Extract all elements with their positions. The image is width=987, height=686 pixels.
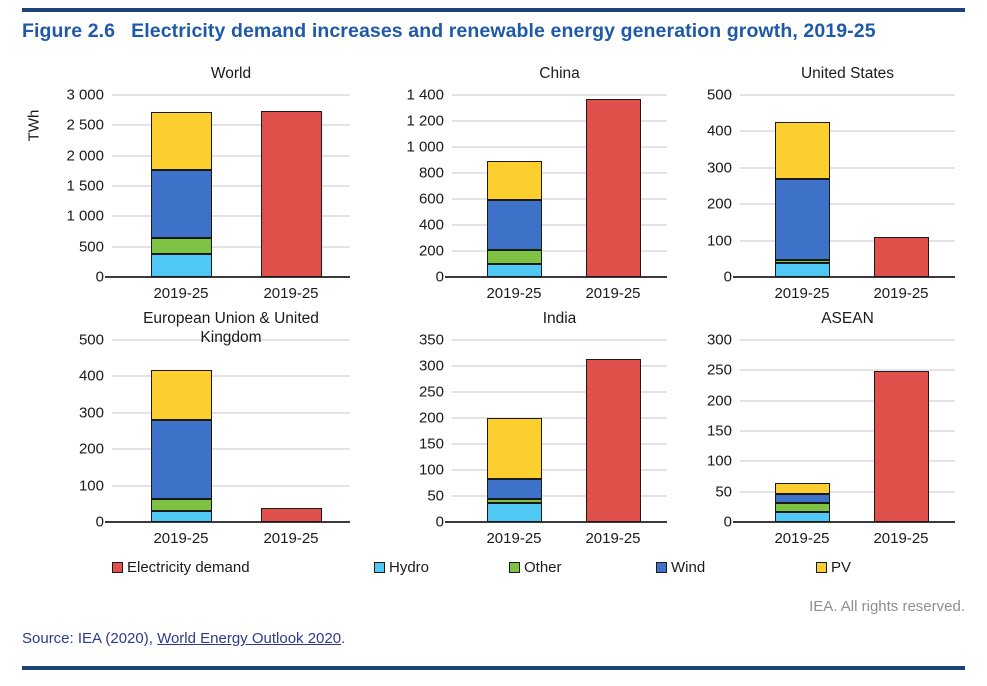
bar-segment-hydro[interactable] bbox=[487, 503, 542, 522]
legend-swatch-icon bbox=[509, 562, 520, 573]
y-axis-tick-label: 300 bbox=[79, 404, 104, 421]
chart-panel: World05001 0001 5002 0002 5003 0002019-2… bbox=[72, 62, 360, 317]
y-axis-tick-label: 250 bbox=[707, 362, 732, 379]
legend-label: Wind bbox=[671, 559, 705, 576]
electricity-demand-bar[interactable] bbox=[874, 237, 929, 277]
x-axis-tick-label: 2019-25 bbox=[153, 530, 208, 547]
x-axis-tick-label: 2019-25 bbox=[153, 285, 208, 302]
y-axis-tick-label: 2 500 bbox=[66, 117, 104, 134]
bar-segment-other[interactable] bbox=[775, 260, 830, 264]
x-axis-tick-label: 2019-25 bbox=[585, 530, 640, 547]
y-axis-tick-label: 200 bbox=[79, 441, 104, 458]
stacked-generation-bar[interactable] bbox=[775, 122, 830, 277]
bar-segment-wind[interactable] bbox=[151, 170, 212, 238]
y-axis-tick-label: 100 bbox=[79, 477, 104, 494]
gridline bbox=[112, 485, 350, 487]
bar-segment-wind[interactable] bbox=[775, 494, 830, 504]
x-axis-tick-label: 2019-25 bbox=[486, 530, 541, 547]
y-axis-tick-label: 0 bbox=[724, 269, 732, 286]
y-axis-tick-label: 250 bbox=[419, 384, 444, 401]
bar-segment-wind[interactable] bbox=[487, 479, 542, 498]
bar-segment-demand[interactable] bbox=[586, 99, 641, 277]
plot-area: 050100150200250300 bbox=[740, 340, 955, 522]
chart-panel: United States01002003004005002019-252019… bbox=[700, 62, 965, 317]
x-axis-tick-label: 2019-25 bbox=[263, 285, 318, 302]
legend-label: Electricity demand bbox=[127, 559, 250, 576]
bar-segment-wind[interactable] bbox=[775, 179, 830, 259]
gridline bbox=[112, 339, 350, 341]
stacked-generation-bar[interactable] bbox=[151, 370, 212, 522]
stacked-generation-bar[interactable] bbox=[487, 161, 542, 277]
y-axis-tick-label: 0 bbox=[436, 514, 444, 531]
bar-segment-pv[interactable] bbox=[775, 483, 830, 494]
source-prefix: Source: IEA (2020), bbox=[22, 630, 157, 647]
chart-panel: European Union & United Kingdom010020030… bbox=[72, 307, 360, 562]
panel-title: United States bbox=[740, 64, 955, 83]
legend-label: PV bbox=[831, 559, 851, 576]
page-title: Figure 2.6Electricity demand increases a… bbox=[22, 20, 876, 43]
legend-item-hydro[interactable]: Hydro bbox=[374, 559, 429, 576]
gridline bbox=[112, 375, 350, 377]
y-axis-tick-label: 400 bbox=[707, 123, 732, 140]
bar-segment-wind[interactable] bbox=[487, 200, 542, 250]
chart-panel: India0501001502002503003502019-252019-25 bbox=[400, 307, 677, 562]
bar-segment-demand[interactable] bbox=[586, 359, 641, 522]
x-axis-tick-label: 2019-25 bbox=[774, 285, 829, 302]
bar-segment-hydro[interactable] bbox=[775, 263, 830, 277]
chart-panel: ASEAN0501001502002503002019-252019-25 bbox=[700, 307, 965, 562]
bar-segment-hydro[interactable] bbox=[151, 511, 212, 522]
bar-segment-other[interactable] bbox=[151, 238, 212, 253]
y-axis-tick-label: 400 bbox=[419, 217, 444, 234]
x-axis-tick-label: 2019-25 bbox=[774, 530, 829, 547]
header-rule bbox=[22, 8, 965, 12]
electricity-demand-bar[interactable] bbox=[261, 111, 322, 277]
electricity-demand-bar[interactable] bbox=[586, 359, 641, 522]
bar-segment-pv[interactable] bbox=[151, 370, 212, 420]
bar-segment-pv[interactable] bbox=[151, 112, 212, 170]
stacked-generation-bar[interactable] bbox=[151, 112, 212, 277]
bar-segment-other[interactable] bbox=[487, 250, 542, 264]
source-link[interactable]: World Energy Outlook 2020 bbox=[157, 630, 341, 647]
bar-segment-wind[interactable] bbox=[151, 420, 212, 499]
x-axis-tick-label: 2019-25 bbox=[486, 285, 541, 302]
gridline bbox=[740, 94, 955, 96]
y-axis-tick-label: 300 bbox=[419, 358, 444, 375]
y-axis-tick-label: 800 bbox=[419, 165, 444, 182]
bar-segment-other[interactable] bbox=[487, 499, 542, 503]
y-axis-tick-label: 3 000 bbox=[66, 87, 104, 104]
plot-area: 0100200300400500 bbox=[112, 340, 350, 522]
y-axis-unit-label: TWh bbox=[25, 110, 42, 142]
y-axis-tick-label: 1 000 bbox=[66, 208, 104, 225]
chart-panel: China02004006008001 0001 2001 4002019-25… bbox=[400, 62, 677, 317]
legend-item-pv[interactable]: PV bbox=[816, 559, 851, 576]
y-axis-tick-label: 50 bbox=[427, 488, 444, 505]
legend-swatch-icon bbox=[112, 562, 123, 573]
y-axis-tick-label: 1 400 bbox=[406, 87, 444, 104]
y-axis-tick-label: 600 bbox=[419, 191, 444, 208]
bar-segment-other[interactable] bbox=[775, 503, 830, 511]
gridline bbox=[452, 94, 667, 96]
y-axis-tick-label: 150 bbox=[419, 436, 444, 453]
gridline bbox=[740, 203, 955, 205]
bar-segment-pv[interactable] bbox=[487, 161, 542, 200]
y-axis-tick-label: 400 bbox=[79, 368, 104, 385]
y-axis-tick-label: 0 bbox=[724, 514, 732, 531]
y-axis-tick-label: 100 bbox=[707, 232, 732, 249]
legend-swatch-icon bbox=[656, 562, 667, 573]
legend-swatch-icon bbox=[816, 562, 827, 573]
y-axis-tick-label: 300 bbox=[707, 159, 732, 176]
electricity-demand-bar[interactable] bbox=[874, 371, 929, 522]
plot-area: 050100150200250300350 bbox=[452, 340, 667, 522]
y-axis-tick-label: 2 000 bbox=[66, 147, 104, 164]
y-axis-tick-label: 150 bbox=[707, 423, 732, 440]
footer-rule bbox=[22, 666, 965, 670]
source-suffix: . bbox=[341, 630, 345, 647]
legend-item-wind[interactable]: Wind bbox=[656, 559, 705, 576]
bar-segment-other[interactable] bbox=[151, 499, 212, 511]
legend-label: Other bbox=[524, 559, 562, 576]
y-axis-tick-label: 200 bbox=[419, 410, 444, 427]
figure-title-text: Electricity demand increases and renewab… bbox=[131, 20, 876, 42]
y-axis-tick-label: 100 bbox=[419, 462, 444, 479]
y-axis-tick-label: 300 bbox=[707, 332, 732, 349]
bar-segment-pv[interactable] bbox=[775, 122, 830, 180]
gridline bbox=[740, 130, 955, 132]
y-axis-tick-label: 1 200 bbox=[406, 113, 444, 130]
x-axis-tick-label: 2019-25 bbox=[585, 285, 640, 302]
bar-segment-hydro[interactable] bbox=[775, 512, 830, 522]
source-note: Source: IEA (2020), World Energy Outlook… bbox=[22, 630, 345, 647]
y-axis-tick-label: 100 bbox=[707, 453, 732, 470]
x-axis-tick-label: 2019-25 bbox=[873, 285, 928, 302]
bar-segment-hydro[interactable] bbox=[151, 254, 212, 277]
plot-area: 0100200300400500 bbox=[740, 95, 955, 277]
stacked-generation-bar[interactable] bbox=[775, 483, 830, 522]
gridline bbox=[452, 339, 667, 341]
x-axis-tick-label: 2019-25 bbox=[873, 530, 928, 547]
gridline bbox=[740, 339, 955, 341]
plot-area: 05001 0001 5002 0002 5003 000 bbox=[112, 95, 350, 277]
y-axis-tick-label: 200 bbox=[707, 196, 732, 213]
stacked-generation-bar[interactable] bbox=[487, 417, 542, 522]
rights-notice: IEA. All rights reserved. bbox=[809, 598, 965, 615]
panel-title: World bbox=[112, 64, 350, 83]
chart-panels: World05001 0001 5002 0002 5003 0002019-2… bbox=[0, 62, 987, 554]
y-axis-tick-label: 350 bbox=[419, 332, 444, 349]
y-axis-tick-label: 0 bbox=[96, 269, 104, 286]
gridline bbox=[112, 412, 350, 414]
y-axis-tick-label: 200 bbox=[707, 392, 732, 409]
panel-title: ASEAN bbox=[740, 309, 955, 328]
electricity-demand-bar[interactable] bbox=[261, 508, 322, 522]
bar-segment-pv[interactable] bbox=[487, 418, 542, 480]
y-axis-tick-label: 0 bbox=[96, 514, 104, 531]
legend-swatch-icon bbox=[374, 562, 385, 573]
bar-segment-hydro[interactable] bbox=[487, 264, 542, 277]
plot-area: 02004006008001 0001 2001 400 bbox=[452, 95, 667, 277]
y-axis-tick-label: 0 bbox=[436, 269, 444, 286]
gridline bbox=[740, 167, 955, 169]
gridline bbox=[112, 94, 350, 96]
y-axis-tick-label: 1 500 bbox=[66, 178, 104, 195]
x-axis-tick-label: 2019-25 bbox=[263, 530, 318, 547]
y-axis-tick-label: 500 bbox=[707, 87, 732, 104]
panel-title: India bbox=[452, 309, 667, 328]
legend-item-other[interactable]: Other bbox=[509, 559, 562, 576]
bar-segment-demand[interactable] bbox=[261, 508, 322, 522]
electricity-demand-bar[interactable] bbox=[586, 99, 641, 277]
y-axis-tick-label: 500 bbox=[79, 238, 104, 255]
figure-number: Figure 2.6 bbox=[22, 20, 115, 42]
bar-segment-demand[interactable] bbox=[874, 237, 929, 277]
y-axis-tick-label: 500 bbox=[79, 332, 104, 349]
gridline bbox=[112, 448, 350, 450]
y-axis-tick-label: 1 000 bbox=[406, 139, 444, 156]
y-axis-tick-label: 200 bbox=[419, 243, 444, 260]
legend-item-demand[interactable]: Electricity demand bbox=[112, 559, 250, 576]
panel-title: China bbox=[452, 64, 667, 83]
bar-segment-demand[interactable] bbox=[874, 371, 929, 522]
y-axis-tick-label: 50 bbox=[715, 483, 732, 500]
chart-legend: Electricity demandHydroOtherWindPV bbox=[0, 559, 987, 583]
legend-label: Hydro bbox=[389, 559, 429, 576]
bar-segment-demand[interactable] bbox=[261, 111, 322, 277]
